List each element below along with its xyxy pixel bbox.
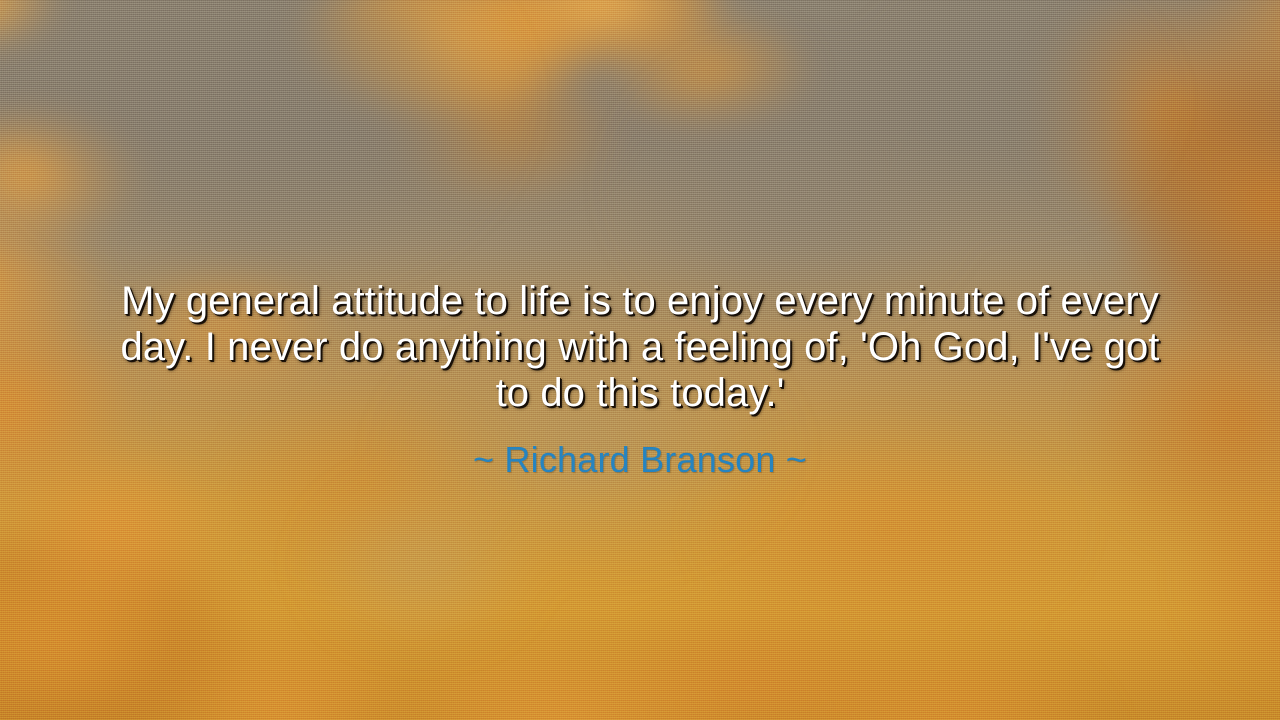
quote-text: My general attitude to life is to enjoy …	[0, 278, 1280, 416]
text-overlay: My general attitude to life is to enjoy …	[0, 0, 1280, 720]
quote-image: My general attitude to life is to enjoy …	[0, 0, 1280, 720]
quote-attribution: ~ Richard Branson ~	[0, 439, 1280, 481]
